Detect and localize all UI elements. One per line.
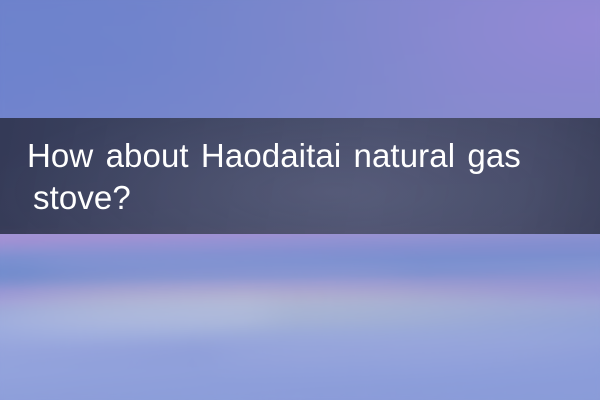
caption-headline: How about Haodaitai natural gas stove?	[33, 135, 582, 219]
title-card: How about Haodaitai natural gas stove?	[0, 0, 600, 400]
caption-banner: How about Haodaitai natural gas stove?	[0, 118, 600, 234]
